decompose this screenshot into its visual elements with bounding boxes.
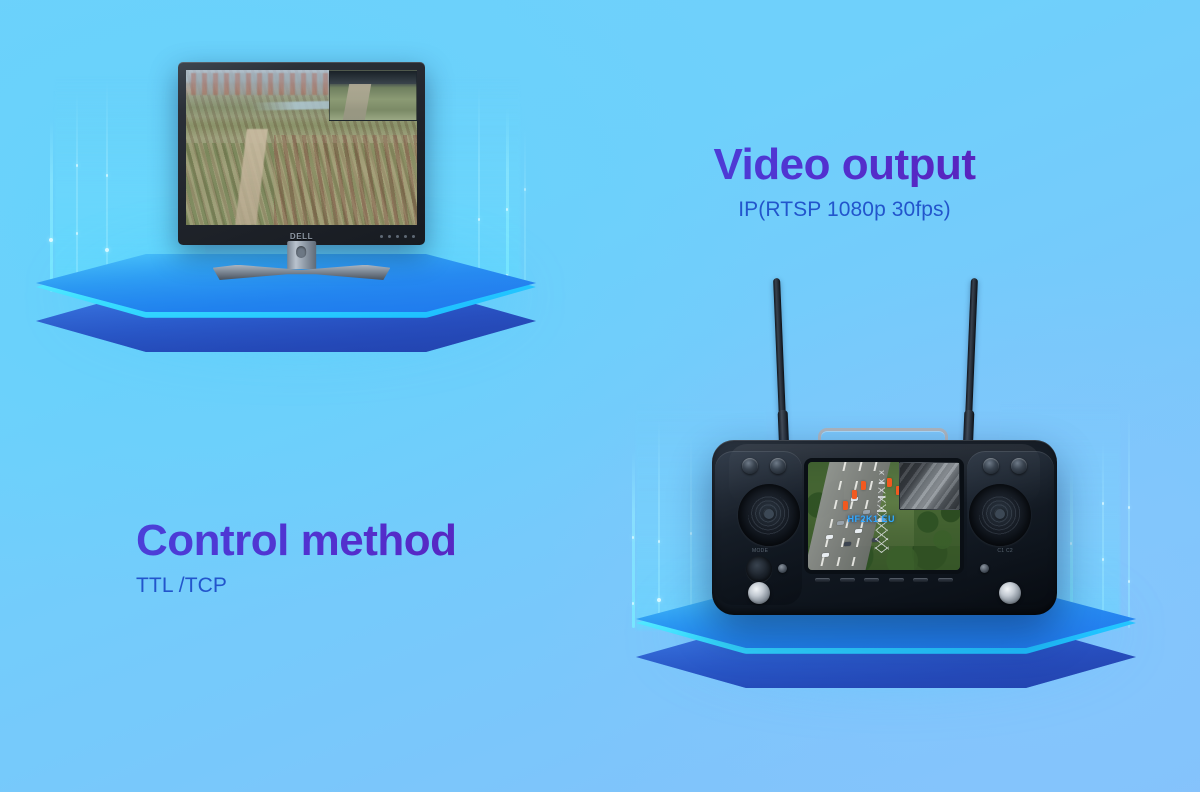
right-small-button[interactable] (980, 564, 989, 573)
roadside-flag (843, 501, 848, 510)
remote-screen: HF2K1 EU (808, 462, 960, 570)
caption-video-output: Video output IP(RTSP 1080p 30fps) (672, 143, 1017, 222)
right-shoulder-button-2[interactable] (1011, 458, 1027, 474)
right-control-label: C1 C2 (997, 548, 1013, 554)
monitor-bezel: DELL (178, 62, 425, 245)
caption-subtitle: IP(RTSP 1080p 30fps) (672, 198, 1017, 222)
left-joystick[interactable] (738, 484, 800, 546)
left-shoulder-button-1[interactable] (742, 458, 758, 474)
function-button[interactable] (938, 578, 953, 582)
function-button-row (815, 578, 953, 582)
roadside-flag (852, 490, 857, 499)
function-button[interactable] (889, 578, 904, 582)
function-button[interactable] (840, 578, 855, 582)
antenna-icon (964, 278, 978, 444)
caption-title: Control method (136, 519, 556, 563)
function-button[interactable] (864, 578, 879, 582)
vehicle (821, 552, 829, 557)
caption-control-method: Control method TTL /TCP (136, 519, 556, 598)
light-beam (632, 452, 635, 628)
right-shoulder-button-1[interactable] (983, 458, 999, 474)
roadside-flag (887, 478, 892, 487)
picture-in-picture-inset (329, 70, 417, 121)
function-button[interactable] (913, 578, 928, 582)
right-joystick[interactable] (969, 484, 1031, 546)
monitor-control-buttons-icon (380, 235, 415, 238)
crop-rows-secondary (274, 135, 417, 225)
left-dial[interactable] (746, 556, 772, 582)
roadside-flag (861, 481, 866, 490)
monitor: DELL (178, 62, 425, 280)
left-control-label: MODE (752, 548, 768, 554)
infographic-stage: DELL (0, 0, 1200, 792)
right-metal-button[interactable] (999, 582, 1021, 604)
caption-title: Video output (672, 143, 1017, 187)
function-button[interactable] (815, 578, 830, 582)
picture-in-picture-inset (899, 462, 960, 510)
monitor-screen (186, 70, 417, 225)
left-shoulder-button-2[interactable] (770, 458, 786, 474)
monitor-stand-neck (287, 241, 317, 269)
left-small-button[interactable] (778, 564, 787, 573)
remote-controller: MODE C1 C2 (712, 440, 1057, 615)
screen-osd-text: HF2K1 EU (848, 514, 896, 524)
antenna-icon (773, 278, 787, 444)
caption-subtitle: TTL /TCP (136, 574, 556, 598)
left-metal-button[interactable] (748, 582, 770, 604)
